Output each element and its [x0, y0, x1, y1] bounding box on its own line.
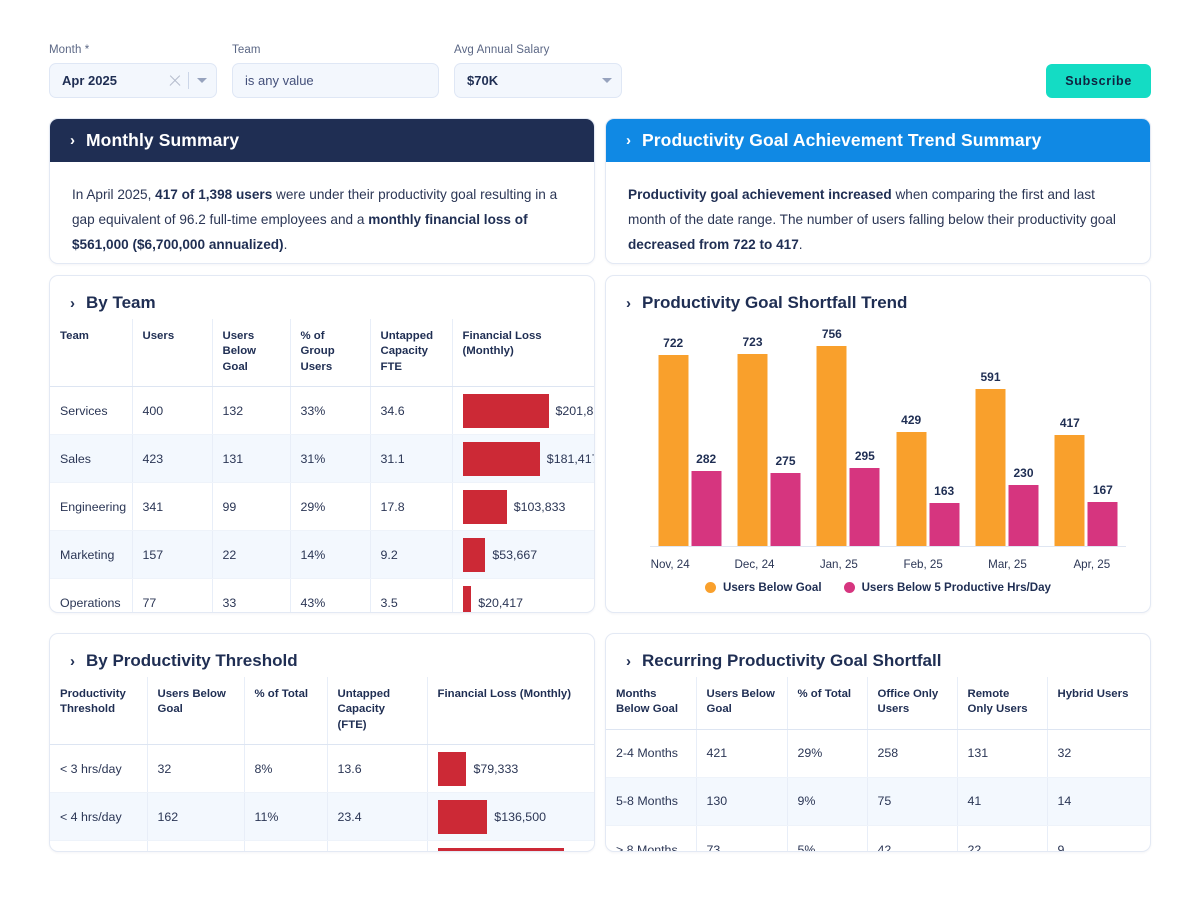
panel-title: Productivity Goal Shortfall Trend	[642, 293, 907, 313]
cell-below: 223	[147, 841, 244, 852]
by-threshold-header[interactable]: › By Productivity Threshold	[50, 634, 594, 677]
loss-bar	[463, 490, 507, 524]
trend-summary-header[interactable]: › Productivity Goal Achievement Trend Su…	[606, 119, 1150, 162]
column-header: Productivity Threshold	[50, 677, 147, 745]
panel-by-threshold: › By Productivity Threshold Productivity…	[49, 633, 595, 852]
dashboard-page: Month * Apr 2025 Team is any value Avg A…	[0, 0, 1200, 900]
table-header-row: Productivity ThresholdUsers Below Goal% …	[50, 677, 594, 745]
cell-fte: 3.5	[370, 579, 452, 613]
cell-office: 75	[867, 777, 957, 825]
x-axis-line	[650, 546, 1126, 548]
bar-group: 591230	[976, 389, 1039, 546]
column-header: Untapped Capacity FTE	[370, 319, 452, 387]
filter-bar: Month * Apr 2025 Team is any value Avg A…	[0, 0, 1200, 112]
table-row: < 5 hrs/day22316%59.2$345,333	[50, 841, 594, 852]
filter-salary-box[interactable]: $70K	[454, 63, 622, 98]
cell-remote: 22	[957, 825, 1047, 852]
monthly-summary-header[interactable]: › Monthly Summary	[50, 119, 594, 162]
cell-below: 132	[212, 387, 290, 435]
cell-fte: 9.2	[370, 531, 452, 579]
chart-legend: Users Below GoalUsers Below 5 Productive…	[606, 581, 1150, 608]
bar-value-label: 591	[980, 370, 1000, 384]
legend-item[interactable]: Users Below Goal	[705, 581, 822, 594]
cell-hybrid: 14	[1047, 777, 1150, 825]
legend-color-swatch	[844, 582, 855, 593]
cell-pct: 16%	[244, 841, 327, 852]
table-row: < 4 hrs/day16211%23.4$136,500	[50, 793, 594, 841]
bar-value-label: 163	[934, 484, 954, 498]
cell-pct: 9%	[787, 777, 867, 825]
bar-users-below-5-hrs[interactable]: 167	[1088, 502, 1118, 546]
panel-shortfall-trend: › Productivity Goal Shortfall Trend 7222…	[605, 275, 1151, 613]
recurring-header[interactable]: › Recurring Productivity Goal Shortfall	[606, 634, 1150, 677]
bar-group: 722282	[658, 355, 721, 546]
table-row: Engineering3419929%17.8$103,833	[50, 483, 594, 531]
chevron-right-icon[interactable]: ›	[70, 296, 75, 311]
cell-below: 73	[696, 825, 787, 852]
cell-office: 42	[867, 825, 957, 852]
cell-below: 162	[147, 793, 244, 841]
bar-users-below-goal[interactable]: 417	[1055, 435, 1085, 546]
cell-team: Marketing	[50, 531, 132, 579]
cell-financial-loss: $53,667	[452, 531, 594, 579]
column-header: Financial Loss (Monthly)	[427, 677, 594, 745]
column-header: Users Below Goal	[212, 319, 290, 387]
chevron-right-icon[interactable]: ›	[626, 654, 631, 669]
panel-trend-summary: › Productivity Goal Achievement Trend Su…	[605, 118, 1151, 264]
cell-team: Services	[50, 387, 132, 435]
cell-below: 421	[696, 729, 787, 777]
shortfall-trend-header[interactable]: › Productivity Goal Shortfall Trend	[606, 276, 1150, 319]
loss-value: $181,417	[547, 452, 595, 466]
filter-month[interactable]: Month * Apr 2025	[49, 44, 217, 98]
loss-value: $53,667	[492, 548, 537, 562]
cell-pct: 43%	[290, 579, 370, 613]
cell-pct: 11%	[244, 793, 327, 841]
filter-team-value: is any value	[245, 73, 429, 88]
bar-value-label: 282	[696, 452, 716, 466]
column-header: Users Below Goal	[147, 677, 244, 745]
cell-financial-loss: $136,500	[427, 793, 594, 841]
table-row: Marketing1572214%9.2$53,667	[50, 531, 594, 579]
bar-value-label: 756	[822, 327, 842, 341]
panel-title: By Team	[86, 293, 156, 313]
filter-month-box[interactable]: Apr 2025	[49, 63, 217, 98]
table-row: Services40013233%34.6$201,833	[50, 387, 594, 435]
column-header: Office Only Users	[867, 677, 957, 729]
bar-value-label: 230	[1013, 466, 1033, 480]
cell-fte: 13.6	[327, 745, 427, 793]
bar-users-below-goal[interactable]: 591	[976, 389, 1006, 546]
bar-users-below-5-hrs[interactable]: 295	[850, 468, 880, 546]
legend-color-swatch	[705, 582, 716, 593]
cell-hybrid: 32	[1047, 729, 1150, 777]
by-team-table: TeamUsersUsers Below Goal% of Group User…	[50, 319, 594, 613]
cell-fte: 23.4	[327, 793, 427, 841]
bar-group: 429163	[896, 432, 959, 546]
x-axis-tick-label: Mar, 25	[988, 558, 1027, 571]
loss-bar	[438, 752, 467, 786]
legend-item[interactable]: Users Below 5 Productive Hrs/Day	[844, 581, 1051, 594]
panel-by-team: › By Team TeamUsersUsers Below Goal% of …	[49, 275, 595, 613]
panel-monthly-summary: › Monthly Summary In April 2025, 417 of …	[49, 118, 595, 264]
bar-users-below-goal[interactable]: 429	[896, 432, 926, 546]
bar-value-label: 167	[1093, 483, 1113, 497]
bar-users-below-5-hrs[interactable]: 230	[1009, 485, 1039, 546]
cell-fte: 17.8	[370, 483, 452, 531]
column-header: Users	[132, 319, 212, 387]
legend-label: Users Below Goal	[723, 581, 822, 594]
chevron-right-icon[interactable]: ›	[626, 296, 631, 311]
cell-fte: 31.1	[370, 435, 452, 483]
chart-plot-area: 722282723275756295429163591230417167	[650, 335, 1126, 547]
table-header-row: TeamUsersUsers Below Goal% of Group User…	[50, 319, 594, 387]
divider	[188, 72, 189, 89]
cell-pct: 5%	[787, 825, 867, 852]
table-row: 5-8 Months1309%754114	[606, 777, 1150, 825]
panel-title: Monthly Summary	[86, 130, 239, 151]
cell-team: Operations	[50, 579, 132, 613]
loss-bar	[438, 848, 564, 852]
cell-users: 341	[132, 483, 212, 531]
cell-pct: 31%	[290, 435, 370, 483]
bar-users-below-5-hrs[interactable]: 275	[771, 473, 801, 546]
x-axis-tick-label: Jan, 25	[820, 558, 858, 571]
cell-users: 77	[132, 579, 212, 613]
cell-below: 99	[212, 483, 290, 531]
cell-team: Sales	[50, 435, 132, 483]
bar-value-label: 295	[855, 449, 875, 463]
bar-group: 756295	[817, 346, 880, 546]
cell-below: 131	[212, 435, 290, 483]
cell-users: 400	[132, 387, 212, 435]
table-row: Operations773343%3.5$20,417	[50, 579, 594, 613]
cell-financial-loss: $345,333	[427, 841, 594, 852]
cell-threshold: < 3 hrs/day	[50, 745, 147, 793]
column-header: Users Below Goal	[696, 677, 787, 729]
panel-recurring-shortfall: › Recurring Productivity Goal Shortfall …	[605, 633, 1151, 852]
by-team-header[interactable]: › By Team	[50, 276, 594, 319]
filter-salary-value: $70K	[467, 73, 602, 88]
bar-users-below-5-hrs[interactable]: 163	[929, 503, 959, 546]
bar-chart: 722282723275756295429163591230417167 Nov…	[628, 327, 1134, 577]
x-axis-tick-label: Apr, 25	[1073, 558, 1110, 571]
column-header: % of Group Users	[290, 319, 370, 387]
table-row: > 8 Months735%42229	[606, 825, 1150, 852]
x-axis-tick-label: Dec, 24	[735, 558, 775, 571]
subscribe-button[interactable]: Subscribe	[1046, 64, 1151, 98]
column-header: Team	[50, 319, 132, 387]
chevron-down-icon[interactable]	[197, 78, 207, 83]
bar-users-below-5-hrs[interactable]: 282	[691, 471, 721, 546]
loss-value: $79,333	[473, 762, 518, 776]
cell-threshold: < 5 hrs/day	[50, 841, 147, 852]
loss-value: $136,500	[494, 810, 546, 824]
cell-months: > 8 Months	[606, 825, 696, 852]
cell-threshold: < 4 hrs/day	[50, 793, 147, 841]
column-header: Untapped Capacity (FTE)	[327, 677, 427, 745]
chevron-right-icon[interactable]: ›	[70, 654, 75, 669]
bar-value-label: 722	[663, 336, 683, 350]
bar-group: 723275	[738, 354, 801, 546]
filter-team[interactable]: Team is any value	[232, 44, 439, 98]
loss-bar	[463, 538, 486, 572]
panel-title: Productivity Goal Achievement Trend Summ…	[642, 130, 1041, 151]
cell-below: 32	[147, 745, 244, 793]
filter-month-value: Apr 2025	[62, 73, 168, 88]
loss-value: $20,417	[478, 596, 523, 610]
x-axis-tick-label: Nov, 24	[651, 558, 690, 571]
cell-remote: 131	[957, 729, 1047, 777]
filter-month-label: Month *	[49, 44, 217, 56]
bar-value-label: 723	[742, 335, 762, 349]
legend-label: Users Below 5 Productive Hrs/Day	[862, 581, 1051, 594]
x-axis-tick-label: Feb, 25	[903, 558, 942, 571]
table-header-row: Months Below GoalUsers Below Goal% of To…	[606, 677, 1150, 729]
cell-remote: 41	[957, 777, 1047, 825]
cell-below: 22	[212, 531, 290, 579]
cell-financial-loss: $201,833	[452, 387, 594, 435]
bar-group: 417167	[1055, 435, 1118, 546]
loss-bar	[438, 800, 488, 834]
by-threshold-table: Productivity ThresholdUsers Below Goal% …	[50, 677, 594, 852]
cell-pct: 14%	[290, 531, 370, 579]
close-icon[interactable]	[168, 74, 182, 88]
trend-summary-text: Productivity goal achievement increased …	[606, 162, 1150, 264]
cell-pct: 8%	[244, 745, 327, 793]
recurring-table: Months Below GoalUsers Below Goal% of To…	[606, 677, 1150, 852]
cell-below: 130	[696, 777, 787, 825]
chevron-right-icon[interactable]: ›	[70, 133, 75, 148]
cell-pct: 29%	[787, 729, 867, 777]
column-header: Remote Only Users	[957, 677, 1047, 729]
cell-pct: 33%	[290, 387, 370, 435]
column-header: Hybrid Users	[1047, 677, 1150, 729]
table-row: < 3 hrs/day328%13.6$79,333	[50, 745, 594, 793]
cell-financial-loss: $20,417	[452, 579, 594, 613]
column-header: % of Total	[244, 677, 327, 745]
chevron-right-icon[interactable]: ›	[626, 133, 631, 148]
filter-team-label: Team	[232, 44, 439, 56]
cell-fte: 34.6	[370, 387, 452, 435]
cell-users: 157	[132, 531, 212, 579]
cell-months: 2-4 Months	[606, 729, 696, 777]
chevron-down-icon[interactable]	[602, 78, 612, 83]
cell-financial-loss: $103,833	[452, 483, 594, 531]
column-header: Financial Loss (Monthly)	[452, 319, 594, 387]
filter-salary-label: Avg Annual Salary	[454, 44, 622, 56]
filter-team-box[interactable]: is any value	[232, 63, 439, 98]
bar-value-label: 275	[775, 454, 795, 468]
table-row: Sales42313131%31.1$181,417	[50, 435, 594, 483]
cell-months: 5-8 Months	[606, 777, 696, 825]
panel-title: By Productivity Threshold	[86, 651, 298, 671]
column-header: % of Total	[787, 677, 867, 729]
cell-financial-loss: $181,417	[452, 435, 594, 483]
filter-avg-annual-salary[interactable]: Avg Annual Salary $70K	[454, 44, 622, 98]
loss-value: $103,833	[514, 500, 566, 514]
cell-team: Engineering	[50, 483, 132, 531]
table-row: 2-4 Months42129%25813132	[606, 729, 1150, 777]
cell-office: 258	[867, 729, 957, 777]
loss-bar	[463, 442, 540, 476]
loss-bar	[463, 394, 549, 428]
bar-value-label: 417	[1060, 416, 1080, 430]
loss-value: $201,833	[556, 404, 596, 418]
bar-users-below-goal[interactable]: 756	[817, 346, 847, 546]
column-header: Months Below Goal	[606, 677, 696, 729]
loss-bar	[463, 586, 472, 613]
cell-pct: 29%	[290, 483, 370, 531]
cell-financial-loss: $79,333	[427, 745, 594, 793]
bar-value-label: 429	[901, 413, 921, 427]
bar-users-below-goal[interactable]: 723	[738, 354, 768, 546]
cell-fte: 59.2	[327, 841, 427, 852]
cell-hybrid: 9	[1047, 825, 1150, 852]
cell-below: 33	[212, 579, 290, 613]
cell-users: 423	[132, 435, 212, 483]
bar-users-below-goal[interactable]: 722	[658, 355, 688, 546]
monthly-summary-text: In April 2025, 417 of 1,398 users were u…	[50, 162, 594, 264]
panel-title: Recurring Productivity Goal Shortfall	[642, 651, 941, 671]
